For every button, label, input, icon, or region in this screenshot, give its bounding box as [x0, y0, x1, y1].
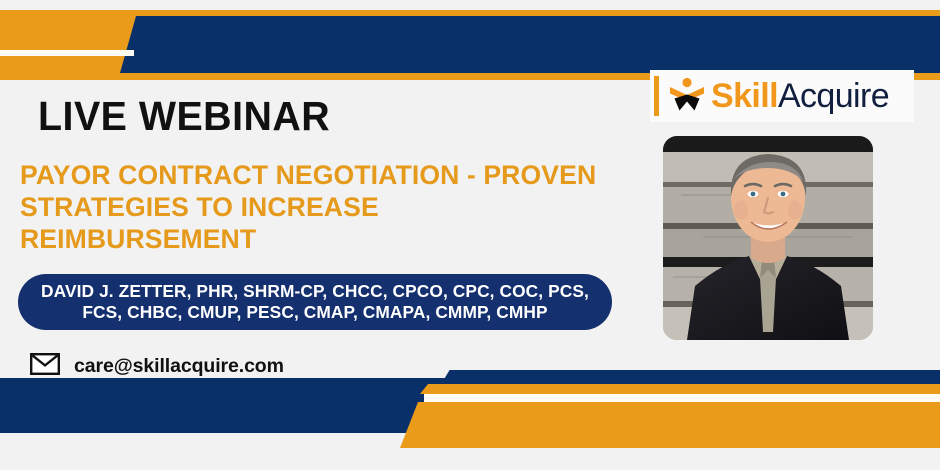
speaker-badge: DAVID J. ZETTER, PHR, SHRM-CP, CHCC, CPC… — [18, 274, 612, 330]
speaker-badge-label: DAVID J. ZETTER, PHR, SHRM-CP, CHCC, CPC… — [35, 281, 595, 323]
top-white-accent-line — [0, 50, 134, 56]
eyebrow-live-webinar: LIVE WEBINAR — [38, 93, 330, 140]
logo-word-acquire: Acquire — [778, 77, 889, 115]
bottom-navy-band-right — [440, 370, 940, 386]
bottom-white-accent-line — [424, 394, 940, 402]
speaker-photo — [663, 136, 873, 340]
page-title: PAYOR CONTRACT NEGOTIATION - PROVEN STRA… — [20, 159, 621, 255]
skillacquire-logo[interactable]: SkillAcquire — [650, 70, 914, 122]
bottom-banner-decoration — [0, 370, 940, 470]
logo-word-skill: Skill — [711, 77, 778, 115]
logo-accent-bar — [654, 76, 659, 116]
top-navy-band — [120, 16, 940, 73]
logo-text-skill: SkillAcquire — [711, 76, 889, 116]
bottom-orange-thin-band — [420, 384, 940, 394]
webinar-poster: SkillAcquire — [0, 0, 940, 470]
person-star-icon — [667, 74, 707, 119]
bottom-orange-band — [400, 402, 940, 448]
